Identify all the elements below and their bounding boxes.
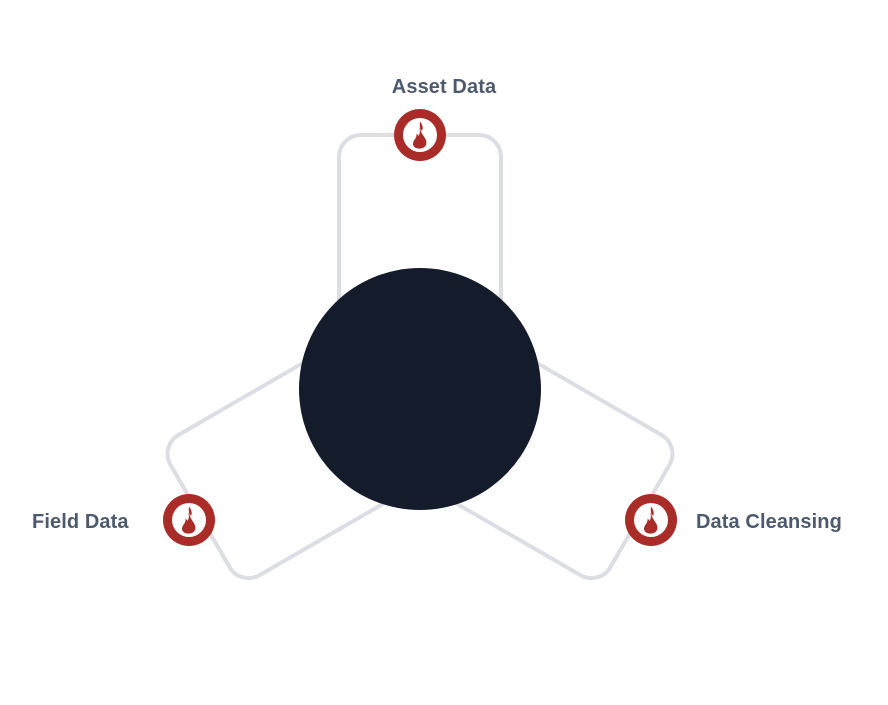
node-icon-data-cleansing[interactable] [625,494,677,546]
erp-hub-diagram: Asset Data Field Data Data Cleansing [0,0,888,705]
node-label-field-data: Field Data [32,512,129,532]
node-icon-field-data[interactable] [163,494,215,546]
hub-circle [299,268,541,510]
node-label-asset-data: Asset Data [0,77,888,97]
hub-node[interactable] [299,268,541,510]
node-icon-asset-data[interactable] [394,109,446,161]
node-label-data-cleansing: Data Cleansing [696,512,842,532]
diagram-canvas [0,0,888,705]
